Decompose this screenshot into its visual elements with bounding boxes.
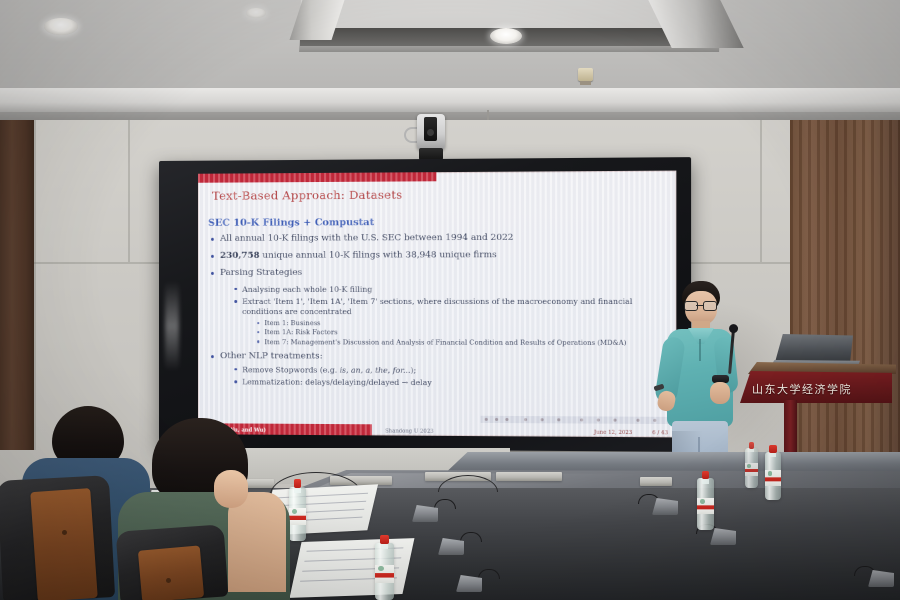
wall-seam xyxy=(34,262,164,264)
presenter-placket xyxy=(699,339,701,361)
bullet-dot-icon xyxy=(234,300,237,303)
table-riser xyxy=(496,472,562,481)
bullet-dot-icon xyxy=(257,340,259,342)
wall-seam xyxy=(760,120,762,262)
slide-accent-bar xyxy=(198,172,437,183)
bullet-bold-figure: 230,758 xyxy=(220,251,260,261)
bullet-dot-icon xyxy=(211,355,214,358)
ceiling-cove-edge xyxy=(0,88,900,114)
podium-stem xyxy=(784,400,797,456)
camera-lens-icon xyxy=(424,117,437,141)
bullet-item: Extract 'Item 1', 'Item 1A', 'Item 7' se… xyxy=(242,297,670,316)
bullet-item: Other NLP treatments: xyxy=(220,351,670,363)
smoke-detector-icon xyxy=(578,68,593,81)
water-bottle xyxy=(375,543,394,600)
bullet-item: Item 1: Business xyxy=(264,319,670,328)
bullet-text-stopwords: Remove Stopwords (e.g. is, an, a, the, f… xyxy=(242,365,416,375)
bullet-dot-icon xyxy=(234,288,237,291)
bullet-item: 230,758 unique annual 10-K filings with … xyxy=(220,249,670,261)
bullet-text: Extract 'Item 1', 'Item 1A', 'Item 7' se… xyxy=(242,297,632,316)
bullet-item: Analysing each whole 10-K filling xyxy=(242,284,670,294)
water-bottle xyxy=(289,487,306,541)
bullet-dot-icon xyxy=(257,322,259,324)
presenter-right-hand xyxy=(710,382,730,404)
bullet-item: Parsing Strategies xyxy=(220,267,670,279)
bullet-dot-icon xyxy=(211,238,214,241)
water-bottle xyxy=(765,452,781,500)
downlight-icon xyxy=(44,18,78,35)
bullet-dot-icon xyxy=(211,272,214,275)
slide-title: Text-Based Approach: Datasets xyxy=(212,188,402,203)
chair-stud xyxy=(62,530,67,535)
display-bezel-glare xyxy=(165,281,179,371)
projection-display: Text-Based Approach: Datasets SEC 10-K F… xyxy=(159,157,691,452)
bullet-text: All annual 10-K filings with the U.S. SE… xyxy=(220,233,513,244)
bullet-dot-icon xyxy=(211,255,214,258)
table-riser xyxy=(640,477,672,486)
wall-seam xyxy=(128,120,130,262)
bullet-text: Item 1: Business xyxy=(264,319,320,327)
glasses-icon xyxy=(684,301,717,309)
bullet-dot-icon xyxy=(234,368,237,371)
audience-hand xyxy=(214,470,248,508)
wall-seam xyxy=(34,120,36,450)
bullet-item: Remove Stopwords (e.g. is, an, a, the, f… xyxy=(242,365,670,376)
slide-bullet-list: All annual 10-K filings with the U.S. SE… xyxy=(208,232,670,392)
bullet-item: All annual 10-K filings with the U.S. SE… xyxy=(220,232,670,245)
water-bottle xyxy=(697,478,714,530)
chair-wood-back xyxy=(30,488,98,600)
bullet-dot-icon xyxy=(234,380,237,383)
presentation-room-photo: Text-Based Approach: Datasets SEC 10-K F… xyxy=(0,0,900,600)
wall-wood-panel-right xyxy=(790,120,900,460)
slide-section-heading: SEC 10-K Filings + Compustat xyxy=(208,217,374,229)
bullet-text: Parsing Strategies xyxy=(220,267,302,277)
wall-seam xyxy=(678,262,790,264)
downlight-icon xyxy=(490,28,522,44)
podium-institution-label: 山东大学经济学院 xyxy=(752,381,892,397)
water-bottle xyxy=(745,448,758,488)
beamer-nav-bar[interactable] xyxy=(481,416,668,424)
bullet-dot-icon xyxy=(257,331,259,333)
bullet-item: Item 1A: Risk Factors xyxy=(264,328,670,337)
chair-stud xyxy=(166,578,171,583)
bullet-text: unique annual 10-K filings with 38,948 u… xyxy=(260,250,497,261)
footer-venue: Shandong U 2023 xyxy=(385,428,433,434)
handout-paper xyxy=(290,538,415,598)
bullet-text: Item 7: Management's Discussion and Anal… xyxy=(264,338,626,347)
bullet-item: Item 7: Management's Discussion and Anal… xyxy=(264,338,670,347)
wall-wood-panel-left xyxy=(0,120,34,450)
bullet-text: Other NLP treatments: xyxy=(220,351,323,361)
presentation-slide: Text-Based Approach: Datasets SEC 10-K F… xyxy=(198,171,676,438)
stopwords-italic: is, an, a, the, for... xyxy=(340,365,411,374)
bullet-text: Item 1A: Risk Factors xyxy=(264,328,337,336)
bullet-text: Lemmatization: delays/delaying/delayed →… xyxy=(242,377,432,387)
footer-date: June 12, 2023 xyxy=(594,429,632,435)
bullet-item: Lemmatization: delays/delaying/delayed →… xyxy=(242,377,670,388)
podium-laptop-screen xyxy=(775,334,853,364)
slide-footer: (Wang, Wu, and Wu) Shandong U 2023 June … xyxy=(198,423,676,437)
chair-wood-back xyxy=(138,545,204,600)
bullet-text: Analysing each whole 10-K filling xyxy=(242,284,372,293)
downlight-icon xyxy=(246,8,266,18)
